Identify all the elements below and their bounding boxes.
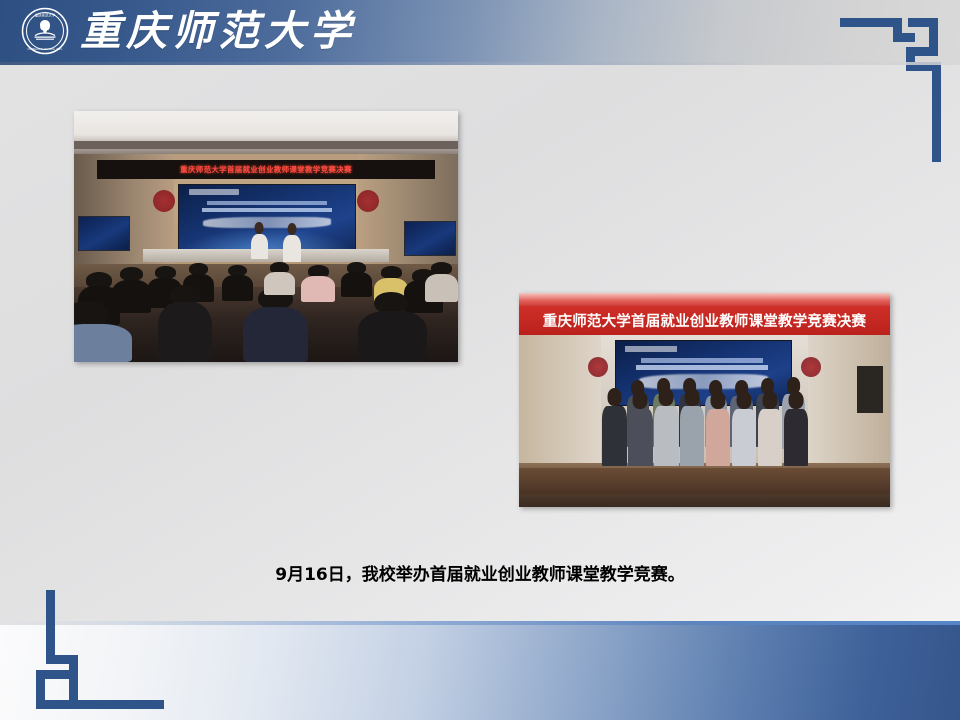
- hall-screen-line1: [207, 201, 327, 205]
- group-person-head: [607, 388, 622, 406]
- header-underline: [0, 62, 960, 65]
- group-person: [784, 409, 808, 467]
- hall-screen-logo-icon: [189, 189, 238, 195]
- audience-body: [264, 272, 295, 295]
- hall-led-banner-text: 重庆师范大学首届就业创业教师课堂教学竞赛决赛: [180, 164, 352, 175]
- group-person: [758, 409, 782, 467]
- corner-ornament-bottom-left-icon: [14, 590, 166, 720]
- audience-body: [74, 324, 132, 362]
- university-name-title: 重庆师范大学: [80, 4, 350, 58]
- slide-canvas: 重庆师范大学 CHONGQING NORMAL UNIV. 重庆师范大学: [0, 0, 960, 720]
- hall-led-banner: 重庆师范大学首届就业创业教师课堂教学竞赛决赛: [97, 160, 435, 179]
- svg-text:CHONGQING NORMAL UNIV.: CHONGQING NORMAL UNIV.: [28, 47, 63, 51]
- audience-body: [301, 276, 336, 302]
- group-person: [628, 409, 652, 467]
- lecture-hall-photo: 重庆师范大学首届就业创业教师课堂教学竞赛决赛: [74, 111, 458, 362]
- hall-ceiling-beam: [74, 141, 458, 149]
- audience-body: [341, 272, 372, 296]
- university-emblem-icon: 重庆师范大学 CHONGQING NORMAL UNIV.: [21, 7, 69, 55]
- audience-head: [155, 266, 176, 279]
- group-person: [602, 406, 626, 466]
- corner-ornament-top-right-icon: [840, 0, 948, 165]
- group-person-head: [633, 391, 648, 408]
- group-person: [680, 406, 704, 466]
- slide-caption: 9月16日，我校举办首届就业创业教师课堂教学竞赛。: [0, 563, 960, 587]
- audience-body: [358, 311, 427, 362]
- audience-head: [74, 301, 109, 327]
- audience-body: [158, 302, 212, 362]
- hall-screen-line2: [202, 208, 333, 212]
- audience-head: [381, 266, 402, 279]
- group-person-head: [711, 391, 726, 408]
- audience-body: [425, 274, 458, 302]
- group-person-head: [789, 391, 804, 408]
- svg-text:重庆师范大学: 重庆师范大学: [35, 12, 56, 17]
- group-person-head: [737, 391, 752, 408]
- group-people: [519, 293, 890, 507]
- group-person-head: [659, 388, 674, 406]
- group-person: [654, 406, 678, 466]
- slide-header: 重庆师范大学 CHONGQING NORMAL UNIV. 重庆师范大学: [0, 0, 960, 62]
- audience-body: [112, 280, 150, 313]
- hall-audience-group: [74, 234, 458, 362]
- group-photo: 重庆师范大学首届就业创业教师课堂教学竞赛决赛: [519, 293, 890, 507]
- audience-body: [243, 307, 308, 362]
- audience-body: [222, 275, 253, 301]
- group-person-head: [685, 388, 700, 406]
- hall-wall-seal-left-icon: [153, 190, 175, 212]
- group-person: [706, 409, 730, 467]
- group-person: [732, 409, 756, 467]
- group-person-head: [763, 391, 778, 408]
